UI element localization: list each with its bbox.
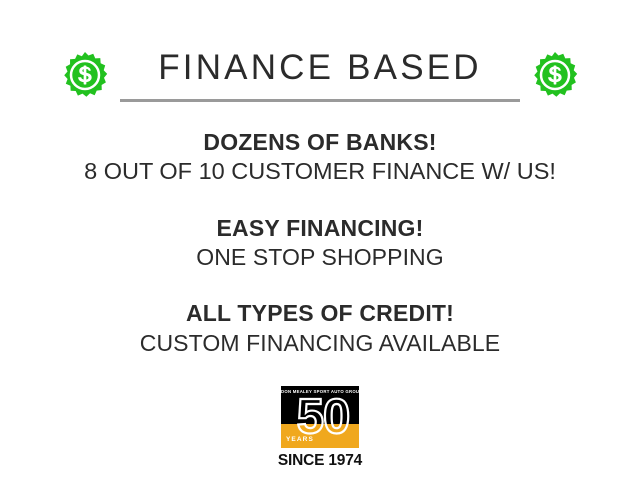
slide-header: FINANCE BASED — [0, 40, 640, 112]
gear-dollar-icon — [530, 51, 580, 101]
copy-headline: DOZENS OF BANKS! — [0, 128, 640, 157]
finance-based-slide: FINANCE BASED DOZENS OF BANKS! 8 OUT OF … — [0, 0, 640, 480]
title-group: FINANCE BASED — [110, 50, 530, 102]
gear-dollar-icon — [60, 51, 110, 101]
logo-years-label: YEARS — [286, 436, 314, 443]
title-divider — [120, 99, 520, 102]
copy-subline: CUSTOM FINANCING AVAILABLE — [0, 329, 640, 358]
copy-block-easy-financing: EASY FINANCING! ONE STOP SHOPPING — [0, 214, 640, 272]
copy-block-all-credit: ALL TYPES OF CREDIT! CUSTOM FINANCING AV… — [0, 299, 640, 357]
dealer-logo: DON MEALEY SPORT AUTO GROUP 50 YEARS SIN… — [0, 386, 640, 470]
copy-subline: ONE STOP SHOPPING — [0, 243, 640, 272]
logo-mark: DON MEALEY SPORT AUTO GROUP 50 YEARS — [281, 386, 359, 448]
copy-subline: 8 OUT OF 10 CUSTOMER FINANCE W/ US! — [0, 157, 640, 187]
logo-group-name: DON MEALEY SPORT AUTO GROUP — [281, 389, 359, 394]
copy-block-banks: DOZENS OF BANKS! 8 OUT OF 10 CUSTOMER FI… — [0, 128, 640, 187]
page-title: FINANCE BASED — [158, 50, 482, 85]
copy-headline: ALL TYPES OF CREDIT! — [0, 299, 640, 328]
body-copy: DOZENS OF BANKS! 8 OUT OF 10 CUSTOMER FI… — [0, 128, 640, 358]
logo-anniversary-number: 50 — [281, 393, 359, 442]
logo-since-label: SINCE 1974 — [278, 452, 362, 470]
copy-headline: EASY FINANCING! — [0, 214, 640, 243]
